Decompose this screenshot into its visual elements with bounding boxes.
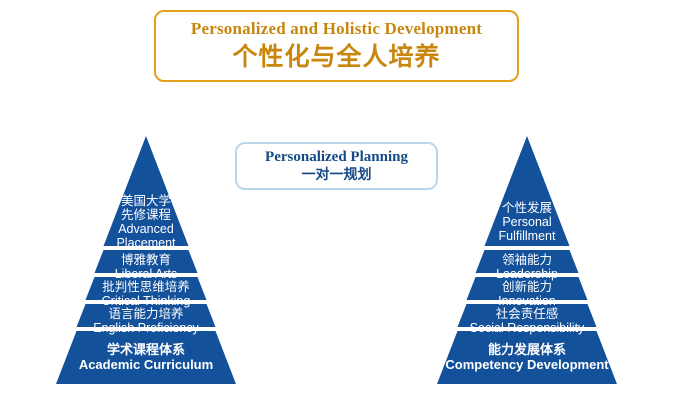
pyramid-right-layer-1 bbox=[485, 136, 570, 246]
personalized-planning-callout: Personalized Planning 一对一规划 bbox=[235, 142, 438, 190]
pyramid-left-layer-2 bbox=[95, 250, 198, 273]
pyramid-left-layer-5 bbox=[56, 331, 236, 384]
pyramid-left-layer-1 bbox=[104, 136, 189, 246]
page-title-chinese: 个性化与全人培养 bbox=[232, 43, 440, 73]
pyramid-right-layer-2 bbox=[476, 250, 579, 273]
page-title-english: Personalized and Holistic Development bbox=[191, 19, 482, 39]
pyramid-right-layer-3 bbox=[467, 277, 588, 300]
page-title-box: Personalized and Holistic Development 个性… bbox=[154, 10, 519, 82]
planning-callout-english: Personalized Planning bbox=[265, 148, 408, 166]
pyramid-left-layer-3 bbox=[86, 277, 207, 300]
pyramid-left-layer-4 bbox=[77, 304, 216, 327]
planning-callout-chinese: 一对一规划 bbox=[302, 167, 372, 184]
pyramid-right-layer-4 bbox=[458, 304, 597, 327]
pyramid-right-layer-5 bbox=[437, 331, 617, 384]
